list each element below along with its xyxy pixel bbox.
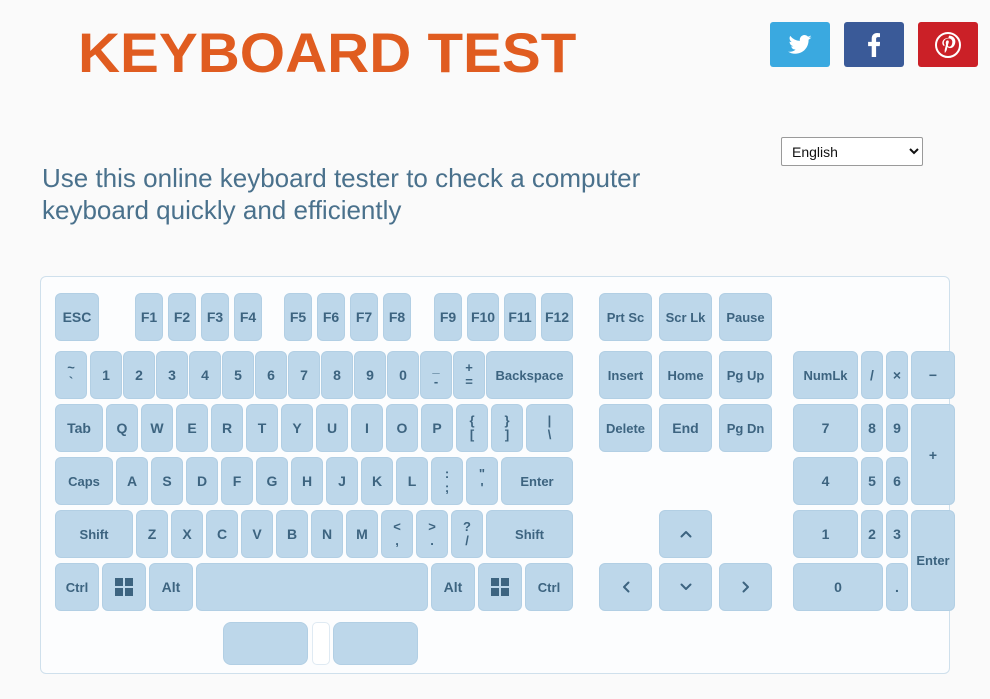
key-f7[interactable]: F7 bbox=[350, 293, 378, 341]
key-label: Q bbox=[117, 420, 128, 436]
key-j[interactable]: J bbox=[326, 457, 358, 505]
arrow-down-icon bbox=[678, 579, 694, 595]
key-numpad-multiply[interactable]: × bbox=[886, 351, 908, 399]
key-label: L bbox=[408, 473, 417, 489]
key-label-base: ] bbox=[505, 429, 509, 441]
key-f8[interactable]: F8 bbox=[383, 293, 411, 341]
key-u[interactable]: U bbox=[316, 404, 348, 452]
key-arrow-right[interactable] bbox=[719, 563, 772, 611]
key-g[interactable]: G bbox=[256, 457, 288, 505]
key-alt-right[interactable]: Alt bbox=[431, 563, 475, 611]
key-label: J bbox=[338, 473, 346, 489]
key-label: 4 bbox=[822, 473, 830, 489]
key-label: F2 bbox=[174, 309, 190, 325]
key-enter[interactable]: Enter bbox=[501, 457, 573, 505]
key-label: NumLk bbox=[803, 368, 847, 383]
key-numpad-subtract[interactable]: − bbox=[911, 351, 955, 399]
key-9[interactable]: 9 bbox=[354, 351, 386, 399]
key-label: E bbox=[187, 420, 196, 436]
key-quote[interactable]: "' bbox=[466, 457, 498, 505]
key-label: × bbox=[893, 367, 901, 383]
key-label: 7 bbox=[822, 420, 830, 436]
key-label: End bbox=[672, 420, 698, 436]
key-numpad-3[interactable]: 3 bbox=[886, 510, 908, 558]
key-semicolon[interactable]: :; bbox=[431, 457, 463, 505]
key-d[interactable]: D bbox=[186, 457, 218, 505]
key-label: . bbox=[895, 579, 899, 595]
touchpad-left-button[interactable] bbox=[223, 622, 308, 665]
keyboard-panel: ESCF1F2F3F4F5F6F7F8F9F10F11F12Prt ScScr … bbox=[40, 276, 950, 674]
key-label: 1 bbox=[822, 526, 830, 542]
key-s[interactable]: S bbox=[151, 457, 183, 505]
arrow-up-icon bbox=[678, 526, 694, 542]
key-arrow-down[interactable] bbox=[659, 563, 712, 611]
key-minus[interactable]: _- bbox=[420, 351, 452, 399]
key-label-base: ' bbox=[480, 482, 483, 494]
key-label: Caps bbox=[68, 474, 100, 489]
key-f4[interactable]: F4 bbox=[234, 293, 262, 341]
key-i[interactable]: I bbox=[351, 404, 383, 452]
key-7[interactable]: 7 bbox=[288, 351, 320, 399]
key-label: Insert bbox=[608, 368, 643, 383]
key-label: Scr Lk bbox=[666, 310, 706, 325]
key-f2[interactable]: F2 bbox=[168, 293, 196, 341]
key-label: Alt bbox=[162, 579, 181, 595]
key-f5[interactable]: F5 bbox=[284, 293, 312, 341]
key-label: F8 bbox=[389, 309, 405, 325]
key-label: 1 bbox=[102, 367, 110, 383]
key-r[interactable]: R bbox=[211, 404, 243, 452]
twitter-icon bbox=[788, 35, 812, 55]
key-label: F7 bbox=[356, 309, 372, 325]
key-page-up[interactable]: Pg Up bbox=[719, 351, 772, 399]
facebook-share-button[interactable] bbox=[844, 22, 904, 67]
pinterest-share-button[interactable] bbox=[918, 22, 978, 67]
key-label: I bbox=[365, 420, 369, 436]
key-numpad-2[interactable]: 2 bbox=[861, 510, 883, 558]
key-label-shifted: + bbox=[465, 362, 473, 374]
key-alt-left[interactable]: Alt bbox=[149, 563, 193, 611]
key-f9[interactable]: F9 bbox=[434, 293, 462, 341]
language-select[interactable]: English bbox=[781, 137, 923, 166]
key-label: V bbox=[252, 526, 261, 542]
key-numpad-7[interactable]: 7 bbox=[793, 404, 858, 452]
key-label: O bbox=[397, 420, 408, 436]
key-label: / bbox=[870, 367, 874, 383]
key-1[interactable]: 1 bbox=[90, 351, 122, 399]
key-label-base: = bbox=[465, 376, 473, 388]
key-label: 7 bbox=[300, 367, 308, 383]
arrow-right-icon bbox=[738, 579, 754, 595]
key-label: 0 bbox=[399, 367, 407, 383]
key-f11[interactable]: F11 bbox=[504, 293, 536, 341]
key-label: F6 bbox=[323, 309, 339, 325]
key-4[interactable]: 4 bbox=[189, 351, 221, 399]
key-5[interactable]: 5 bbox=[222, 351, 254, 399]
key-label: 6 bbox=[893, 473, 901, 489]
key-print-screen[interactable]: Prt Sc bbox=[599, 293, 652, 341]
key-8[interactable]: 8 bbox=[321, 351, 353, 399]
key-meta-right[interactable] bbox=[478, 563, 522, 611]
key-label: 2 bbox=[868, 526, 876, 542]
page-subtitle: Use this online keyboard tester to check… bbox=[42, 162, 682, 226]
key-label: F1 bbox=[141, 309, 157, 325]
key-label: 3 bbox=[893, 526, 901, 542]
key-comma[interactable]: <, bbox=[381, 510, 413, 558]
key-label: ESC bbox=[63, 309, 92, 325]
key-label: 0 bbox=[834, 579, 842, 595]
key-label: Prt Sc bbox=[607, 310, 645, 325]
key-f1[interactable]: F1 bbox=[135, 293, 163, 341]
key-escape[interactable]: ESC bbox=[55, 293, 99, 341]
key-label: F12 bbox=[545, 309, 569, 325]
key-label-shifted: _ bbox=[432, 362, 439, 374]
key-label: 5 bbox=[234, 367, 242, 383]
key-label: Pause bbox=[726, 310, 764, 325]
windows-icon bbox=[115, 578, 133, 596]
key-t[interactable]: T bbox=[246, 404, 278, 452]
key-delete[interactable]: Delete bbox=[599, 404, 652, 452]
key-label-base: [ bbox=[470, 429, 474, 441]
key-label: − bbox=[929, 367, 937, 383]
key-label-shifted: > bbox=[428, 521, 436, 533]
key-label: F9 bbox=[440, 309, 456, 325]
key-numpad-6[interactable]: 6 bbox=[886, 457, 908, 505]
key-scroll-lock[interactable]: Scr Lk bbox=[659, 293, 712, 341]
key-m[interactable]: M bbox=[346, 510, 378, 558]
key-0[interactable]: 0 bbox=[387, 351, 419, 399]
key-bracket-left[interactable]: {[ bbox=[456, 404, 488, 452]
key-backslash[interactable]: |\ bbox=[526, 404, 573, 452]
key-v[interactable]: V bbox=[241, 510, 273, 558]
key-a[interactable]: A bbox=[116, 457, 148, 505]
key-label: X bbox=[182, 526, 191, 542]
key-label: Pg Up bbox=[727, 368, 765, 383]
key-3[interactable]: 3 bbox=[156, 351, 188, 399]
key-label: M bbox=[356, 526, 368, 542]
social-share-row bbox=[770, 22, 978, 67]
key-num-lock[interactable]: NumLk bbox=[793, 351, 858, 399]
key-label-shifted: ~ bbox=[67, 362, 75, 374]
key-numpad-4[interactable]: 4 bbox=[793, 457, 858, 505]
key-label: 9 bbox=[893, 420, 901, 436]
key-label: R bbox=[222, 420, 232, 436]
key-label-base: , bbox=[395, 535, 399, 547]
key-label: 9 bbox=[366, 367, 374, 383]
key-label: Pg Dn bbox=[727, 421, 765, 436]
key-ctrl-left[interactable]: Ctrl bbox=[55, 563, 99, 611]
key-end[interactable]: End bbox=[659, 404, 712, 452]
key-label: U bbox=[327, 420, 337, 436]
key-label: 5 bbox=[868, 473, 876, 489]
key-equal[interactable]: += bbox=[453, 351, 485, 399]
key-label-base: ; bbox=[445, 482, 449, 494]
arrow-left-icon bbox=[618, 579, 634, 595]
key-label-base: . bbox=[430, 535, 434, 547]
key-label: 8 bbox=[333, 367, 341, 383]
key-label-base: \ bbox=[548, 429, 552, 441]
key-bracket-right[interactable]: }] bbox=[491, 404, 523, 452]
key-page-down[interactable]: Pg Dn bbox=[719, 404, 772, 452]
key-f6[interactable]: F6 bbox=[317, 293, 345, 341]
key-label: + bbox=[929, 447, 937, 463]
key-numpad-0[interactable]: 0 bbox=[793, 563, 883, 611]
key-label: F5 bbox=[290, 309, 306, 325]
key-arrow-left[interactable] bbox=[599, 563, 652, 611]
key-w[interactable]: W bbox=[141, 404, 173, 452]
key-label-shifted: | bbox=[548, 415, 552, 427]
key-y[interactable]: Y bbox=[281, 404, 313, 452]
key-insert[interactable]: Insert bbox=[599, 351, 652, 399]
key-label: Ctrl bbox=[66, 580, 88, 595]
key-b[interactable]: B bbox=[276, 510, 308, 558]
key-numpad-divide[interactable]: / bbox=[861, 351, 883, 399]
key-label-shifted: < bbox=[393, 521, 401, 533]
key-label: Delete bbox=[606, 421, 645, 436]
key-z[interactable]: Z bbox=[136, 510, 168, 558]
key-f10[interactable]: F10 bbox=[467, 293, 499, 341]
key-label: B bbox=[287, 526, 297, 542]
key-numpad-8[interactable]: 8 bbox=[861, 404, 883, 452]
key-2[interactable]: 2 bbox=[123, 351, 155, 399]
key-label: T bbox=[258, 420, 267, 436]
key-label-shifted: { bbox=[469, 415, 474, 427]
key-k[interactable]: K bbox=[361, 457, 393, 505]
language-selector-wrap: English bbox=[781, 137, 923, 166]
key-numpad-5[interactable]: 5 bbox=[861, 457, 883, 505]
key-label: 6 bbox=[267, 367, 275, 383]
key-label: Enter bbox=[520, 474, 553, 489]
page-title: KEYBOARD TEST bbox=[78, 22, 576, 84]
key-label: Ctrl bbox=[538, 580, 560, 595]
key-label: F4 bbox=[240, 309, 256, 325]
key-label: F3 bbox=[207, 309, 223, 325]
key-numpad-enter[interactable]: Enter bbox=[911, 510, 955, 611]
key-label-base: ` bbox=[69, 376, 73, 388]
key-n[interactable]: N bbox=[311, 510, 343, 558]
windows-icon bbox=[491, 578, 509, 596]
key-label-shifted: : bbox=[445, 468, 449, 480]
key-label: Backspace bbox=[496, 368, 564, 383]
key-f12[interactable]: F12 bbox=[541, 293, 573, 341]
key-arrow-up[interactable] bbox=[659, 510, 712, 558]
key-label: P bbox=[432, 420, 441, 436]
key-label: Y bbox=[292, 420, 301, 436]
keyboard-layout: ESCF1F2F3F4F5F6F7F8F9F10F11F12Prt ScScr … bbox=[41, 277, 949, 673]
key-label: Home bbox=[667, 368, 703, 383]
key-label: S bbox=[162, 473, 171, 489]
key-label: H bbox=[302, 473, 312, 489]
key-e[interactable]: E bbox=[176, 404, 208, 452]
key-label: K bbox=[372, 473, 382, 489]
key-label: C bbox=[217, 526, 227, 542]
key-label: N bbox=[322, 526, 332, 542]
key-meta-left[interactable] bbox=[102, 563, 146, 611]
key-f3[interactable]: F3 bbox=[201, 293, 229, 341]
key-backspace[interactable]: Backspace bbox=[486, 351, 573, 399]
key-label: W bbox=[150, 420, 163, 436]
key-x[interactable]: X bbox=[171, 510, 203, 558]
facebook-icon bbox=[868, 33, 880, 57]
key-label-base: / bbox=[465, 535, 469, 547]
key-label: A bbox=[127, 473, 137, 489]
key-label: F10 bbox=[471, 309, 495, 325]
key-label: Shift bbox=[80, 527, 109, 542]
key-label: Enter bbox=[916, 553, 949, 568]
key-label: F11 bbox=[508, 309, 531, 325]
key-label-base: - bbox=[434, 376, 438, 388]
key-p[interactable]: P bbox=[421, 404, 453, 452]
key-numpad-decimal[interactable]: . bbox=[886, 563, 908, 611]
key-numpad-1[interactable]: 1 bbox=[793, 510, 858, 558]
key-ctrl-right[interactable]: Ctrl bbox=[525, 563, 573, 611]
key-numpad-9[interactable]: 9 bbox=[886, 404, 908, 452]
key-h[interactable]: H bbox=[291, 457, 323, 505]
key-label: F bbox=[233, 473, 242, 489]
key-l[interactable]: L bbox=[396, 457, 428, 505]
key-backquote[interactable]: ~` bbox=[55, 351, 87, 399]
key-pause[interactable]: Pause bbox=[719, 293, 772, 341]
key-o[interactable]: O bbox=[386, 404, 418, 452]
key-label: 2 bbox=[135, 367, 143, 383]
key-period[interactable]: >. bbox=[416, 510, 448, 558]
key-6[interactable]: 6 bbox=[255, 351, 287, 399]
key-home[interactable]: Home bbox=[659, 351, 712, 399]
key-label-shifted: } bbox=[504, 415, 509, 427]
key-slash[interactable]: ?/ bbox=[451, 510, 483, 558]
key-label: Tab bbox=[67, 420, 91, 436]
touchpad-scroll-strip[interactable] bbox=[312, 622, 330, 665]
key-f[interactable]: F bbox=[221, 457, 253, 505]
key-label: Z bbox=[148, 526, 157, 542]
key-c[interactable]: C bbox=[206, 510, 238, 558]
key-label: G bbox=[267, 473, 278, 489]
page-header: KEYBOARD TEST bbox=[0, 0, 990, 120]
key-label: 4 bbox=[201, 367, 209, 383]
touchpad-right-button[interactable] bbox=[333, 622, 418, 665]
key-numpad-add[interactable]: + bbox=[911, 404, 955, 505]
key-label: D bbox=[197, 473, 207, 489]
key-label-shifted: ? bbox=[463, 521, 471, 533]
key-space[interactable] bbox=[196, 563, 428, 611]
key-shift-right[interactable]: Shift bbox=[486, 510, 573, 558]
key-label: 8 bbox=[868, 420, 876, 436]
key-tab[interactable]: Tab bbox=[55, 404, 103, 452]
twitter-share-button[interactable] bbox=[770, 22, 830, 67]
key-caps-lock[interactable]: Caps bbox=[55, 457, 113, 505]
key-label: Shift bbox=[515, 527, 544, 542]
key-label: Alt bbox=[444, 579, 463, 595]
key-label: 3 bbox=[168, 367, 176, 383]
pinterest-icon bbox=[935, 32, 961, 58]
key-shift-left[interactable]: Shift bbox=[55, 510, 133, 558]
key-label-shifted: " bbox=[479, 468, 485, 480]
key-q[interactable]: Q bbox=[106, 404, 138, 452]
